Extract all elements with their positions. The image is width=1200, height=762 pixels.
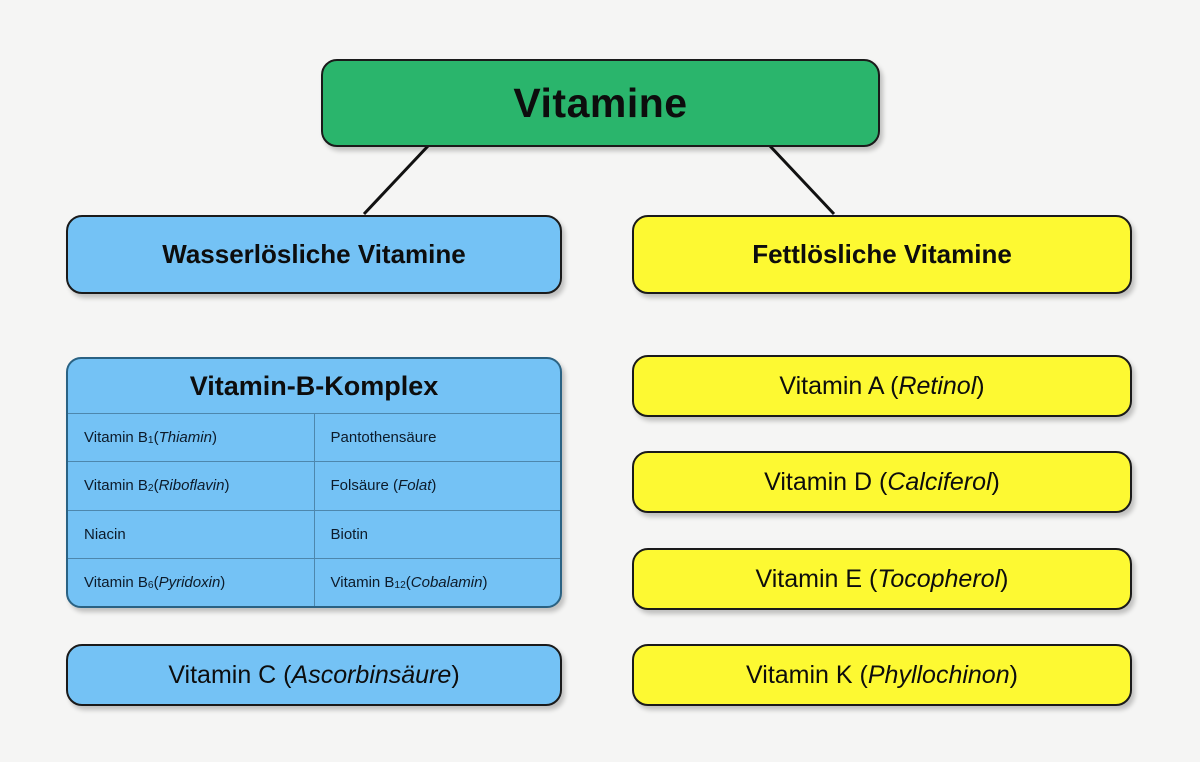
category-header-fat-soluble[interactable]: Fettlösliche Vitamine <box>632 215 1132 294</box>
leaf-node-vitamin-a[interactable]: Vitamin A (Retinol) <box>632 355 1132 417</box>
connector-root-to-fat-soluble <box>770 146 834 214</box>
table-cell: Niacin <box>68 511 315 558</box>
category-header-water-soluble-label: Wasserlösliche Vitamine <box>162 239 465 270</box>
root-node-vitamine[interactable]: Vitamine <box>321 59 880 147</box>
leaf-node-vitamin-k-label: Vitamin K (Phyllochinon) <box>746 661 1018 690</box>
table-row: Niacin Biotin <box>68 511 560 559</box>
leaf-node-vitamin-a-label: Vitamin A (Retinol) <box>779 372 984 401</box>
table-row: Vitamin B6 (Pyridoxin) Vitamin B12 (Coba… <box>68 559 560 606</box>
category-header-fat-soluble-label: Fettlösliche Vitamine <box>752 239 1012 270</box>
table-row: Vitamin B1 (Thiamin) Pantothensäure <box>68 414 560 462</box>
leaf-node-vitamin-k[interactable]: Vitamin K (Phyllochinon) <box>632 644 1132 706</box>
table-cell: Vitamin B6 (Pyridoxin) <box>68 559 315 606</box>
category-header-water-soluble[interactable]: Wasserlösliche Vitamine <box>66 215 562 294</box>
leaf-node-vitamin-c[interactable]: Vitamin C (Ascorbinsäure) <box>66 644 562 706</box>
leaf-node-vitamin-d[interactable]: Vitamin D (Calciferol) <box>632 451 1132 513</box>
connector-root-to-water-soluble <box>364 146 428 214</box>
table-cell: Vitamin B12 (Cobalamin) <box>315 559 561 606</box>
vitamin-b-complex-title: Vitamin-B-Komplex <box>68 359 560 413</box>
vitamin-classification-diagram: Vitamine Wasserlösliche Vitamine Fettlös… <box>0 0 1200 762</box>
root-node-label: Vitamine <box>513 80 687 127</box>
vitamin-b-complex-grid: Vitamin B1 (Thiamin) Pantothensäure Vita… <box>68 413 560 606</box>
table-cell: Vitamin B2 (Riboflavin) <box>68 462 315 509</box>
leaf-node-vitamin-e-label: Vitamin E (Tocopherol) <box>756 565 1009 594</box>
vitamin-b-complex-table[interactable]: Vitamin-B-Komplex Vitamin B1 (Thiamin) P… <box>66 357 562 608</box>
leaf-node-vitamin-e[interactable]: Vitamin E (Tocopherol) <box>632 548 1132 610</box>
table-cell: Biotin <box>315 511 561 558</box>
leaf-node-vitamin-d-label: Vitamin D (Calciferol) <box>764 468 1000 497</box>
table-row: Vitamin B2 (Riboflavin) Folsäure (Folat) <box>68 462 560 510</box>
table-cell: Vitamin B1 (Thiamin) <box>68 414 315 461</box>
table-cell: Pantothensäure <box>315 414 561 461</box>
table-cell: Folsäure (Folat) <box>315 462 561 509</box>
leaf-node-vitamin-c-label: Vitamin C (Ascorbinsäure) <box>168 661 459 690</box>
